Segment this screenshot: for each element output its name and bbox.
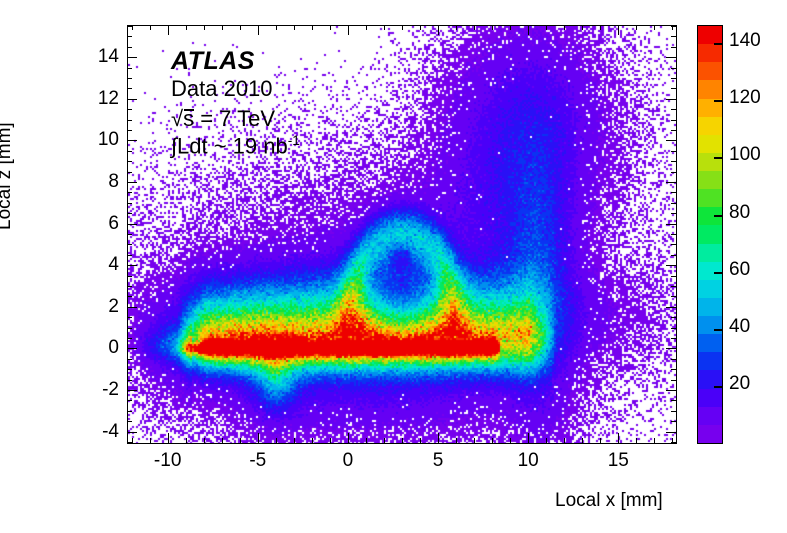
x-axis-tick — [186, 438, 187, 443]
y-axis-tick — [127, 213, 132, 214]
y-axis-tick-right — [671, 36, 676, 37]
color-scale-tick — [714, 157, 723, 159]
y-axis-tick — [127, 432, 137, 433]
x-axis-tick-top — [384, 25, 385, 30]
y-axis-tick-label: 10 — [85, 129, 119, 151]
y-axis-tick — [127, 47, 132, 48]
energy-value: = 7 TeV — [194, 106, 275, 131]
x-axis-tick — [204, 438, 205, 443]
y-axis-tick — [127, 130, 132, 131]
color-scale-band — [698, 244, 722, 262]
color-scale-tick-label: 20 — [729, 373, 750, 395]
y-axis-tick-right — [666, 57, 676, 58]
y-axis-tick — [127, 328, 132, 329]
x-axis-tick-label: -5 — [235, 450, 281, 472]
color-scale-tick-label: 140 — [729, 30, 761, 52]
sqrt-overbar — [184, 109, 194, 111]
x-axis-tick-top — [294, 25, 295, 30]
x-axis-tick — [384, 438, 385, 443]
y-axis-tick-right — [671, 442, 676, 443]
y-axis-tick-right — [671, 400, 676, 401]
x-axis-tick — [132, 438, 133, 443]
energy-label: √s = 7 TeV — [171, 107, 300, 130]
color-scale-band — [698, 407, 722, 425]
dataset-label: Data 2010 — [171, 78, 300, 100]
x-axis-tick-top — [330, 25, 331, 30]
y-axis-tick — [127, 172, 132, 173]
x-axis-tick — [402, 438, 403, 443]
x-axis-tick — [456, 438, 457, 443]
y-axis-tick — [127, 151, 132, 152]
y-axis-tick-right — [671, 234, 676, 235]
color-scale-tick-label: 120 — [729, 87, 761, 109]
x-axis-tick-top — [402, 25, 403, 30]
x-axis-tick — [546, 438, 547, 443]
luminosity-value: Ldt ~ 19 nb — [177, 134, 288, 159]
y-axis-tick-right — [671, 120, 676, 121]
y-axis-tick-label: 8 — [85, 171, 119, 193]
y-axis-tick — [127, 265, 137, 266]
x-axis-tick — [618, 433, 619, 443]
y-axis-tick — [127, 421, 132, 422]
color-scale-band — [698, 117, 722, 135]
y-axis-tick-right — [671, 68, 676, 69]
y-axis-tick-right — [666, 432, 676, 433]
x-axis-tick-top — [312, 25, 313, 30]
y-axis-tick — [127, 359, 132, 360]
y-axis-tick-right — [671, 192, 676, 193]
x-axis-tick — [222, 438, 223, 443]
x-axis-tick — [366, 438, 367, 443]
y-axis-tick — [127, 182, 137, 183]
y-axis-tick — [127, 234, 132, 235]
x-axis-tick-label: 5 — [415, 450, 461, 472]
y-axis-tick — [127, 99, 137, 100]
color-scale-tick-label: 60 — [729, 259, 750, 281]
y-axis-tick — [127, 296, 132, 297]
x-axis-tick-top — [204, 25, 205, 30]
x-axis-tick-top — [510, 25, 511, 30]
x-axis-tick-top — [600, 25, 601, 30]
y-axis-tick-right — [666, 390, 676, 391]
x-axis-tick-top — [636, 25, 637, 30]
y-axis-tick-right — [671, 161, 676, 162]
color-scale-band — [698, 280, 722, 298]
color-scale-tick — [714, 215, 723, 217]
luminosity-label: ∫Ldt ~ 19 nb-1 — [171, 134, 300, 158]
y-axis-tick — [127, 140, 137, 141]
x-axis-tick-top — [348, 25, 349, 35]
y-axis-tick — [127, 442, 132, 443]
y-axis-tick — [127, 109, 132, 110]
y-axis-tick-label: 12 — [85, 88, 119, 110]
x-axis-tick-top — [150, 25, 151, 30]
y-axis-tick-right — [671, 130, 676, 131]
x-axis-tick — [510, 438, 511, 443]
y-axis-tick — [127, 390, 137, 391]
x-axis-tick — [420, 438, 421, 443]
y-axis-tick-right — [671, 213, 676, 214]
y-axis-tick-right — [671, 172, 676, 173]
y-axis-tick-right — [671, 317, 676, 318]
y-axis-tick — [127, 276, 132, 277]
x-axis-tick — [492, 438, 493, 443]
color-scale-tick — [714, 272, 723, 274]
color-scale-band — [698, 80, 722, 98]
x-axis-tick — [528, 433, 529, 443]
color-scale-tick-label: 40 — [729, 316, 750, 338]
x-axis-tick-label: 0 — [325, 450, 371, 472]
y-axis-tick — [127, 307, 137, 308]
y-axis-tick — [127, 78, 132, 79]
x-axis-tick-label: -10 — [145, 450, 191, 472]
color-scale-band — [698, 352, 722, 370]
color-scale-band — [698, 189, 722, 207]
color-scale-bar — [697, 25, 723, 444]
x-axis-tick — [582, 438, 583, 443]
x-axis-tick — [564, 438, 565, 443]
y-axis-tick-label: 2 — [85, 296, 119, 318]
x-axis-tick — [294, 438, 295, 443]
y-axis-tick — [127, 36, 132, 37]
x-axis-tick-label: 15 — [595, 450, 641, 472]
y-axis-tick-label: 14 — [85, 46, 119, 68]
y-axis-tick-right — [666, 224, 676, 225]
color-scale-tick — [714, 329, 723, 331]
color-scale-band — [698, 44, 722, 62]
color-scale-band — [698, 135, 722, 153]
y-axis-tick-right — [666, 99, 676, 100]
x-axis-tick-top — [528, 25, 529, 35]
sqrt-glyph: √ — [171, 106, 183, 131]
y-axis-title: Local z [mm] — [0, 122, 16, 230]
x-axis-tick-top — [276, 25, 277, 30]
y-axis-tick-right — [671, 26, 676, 27]
y-axis-tick-right — [671, 47, 676, 48]
x-axis-tick-top — [258, 25, 259, 35]
y-axis-tick — [127, 57, 137, 58]
x-axis-tick-top — [492, 25, 493, 30]
color-scale-tick — [714, 100, 723, 102]
x-axis-title: Local x [mm] — [555, 490, 663, 512]
y-axis-tick — [127, 203, 132, 204]
y-axis-tick — [127, 317, 132, 318]
color-scale-band — [698, 334, 722, 352]
x-axis-tick-top — [582, 25, 583, 30]
color-scale-band — [698, 153, 722, 171]
x-axis-tick-top — [420, 25, 421, 30]
luminosity-exponent: -1 — [288, 133, 300, 148]
y-axis-tick-right — [671, 369, 676, 370]
y-axis-tick-right — [671, 411, 676, 412]
color-scale-tick-label: 80 — [729, 202, 750, 224]
x-axis-tick — [654, 438, 655, 443]
color-scale-band — [698, 62, 722, 80]
x-axis-tick — [168, 433, 169, 443]
x-axis-tick — [348, 433, 349, 443]
y-axis-tick-right — [671, 276, 676, 277]
y-axis-tick — [127, 224, 137, 225]
y-axis-tick-right — [666, 140, 676, 141]
y-axis-tick — [127, 255, 132, 256]
color-scale-band — [698, 425, 722, 443]
x-axis-tick — [312, 438, 313, 443]
y-axis-tick — [127, 286, 132, 287]
y-axis-tick-right — [666, 307, 676, 308]
x-axis-tick-top — [564, 25, 565, 30]
x-axis-tick-top — [132, 25, 133, 30]
y-axis-tick-right — [671, 255, 676, 256]
x-axis-tick-top — [366, 25, 367, 30]
x-axis-tick — [258, 433, 259, 443]
x-axis-tick — [240, 438, 241, 443]
plot-frame: ATLAS Data 2010 √s = 7 TeV ∫Ldt ~ 19 nb-… — [127, 25, 677, 444]
x-axis-tick-top — [186, 25, 187, 30]
color-scale-band — [698, 262, 722, 280]
x-axis-tick — [474, 438, 475, 443]
x-axis-tick-top — [618, 25, 619, 35]
y-axis-tick-right — [671, 359, 676, 360]
x-axis-tick-top — [168, 25, 169, 35]
y-axis-tick-right — [671, 88, 676, 89]
x-axis-tick-top — [546, 25, 547, 30]
y-axis-tick-label: 4 — [85, 254, 119, 276]
y-axis-tick-label: 6 — [85, 213, 119, 235]
y-axis-tick-label: -4 — [85, 421, 119, 443]
x-axis-tick — [150, 438, 151, 443]
x-axis-tick-label: 10 — [505, 450, 551, 472]
y-axis-tick-right — [671, 151, 676, 152]
x-axis-tick — [438, 433, 439, 443]
y-axis-tick-right — [671, 286, 676, 287]
y-axis-tick-right — [666, 182, 676, 183]
y-axis-tick-right — [666, 348, 676, 349]
y-axis-tick-right — [671, 109, 676, 110]
y-axis-tick — [127, 88, 132, 89]
y-axis-tick — [127, 68, 132, 69]
x-axis-tick — [330, 438, 331, 443]
y-axis-tick — [127, 244, 132, 245]
x-axis-tick-top — [438, 25, 439, 35]
x-axis-tick — [276, 438, 277, 443]
y-axis-tick-label: -2 — [85, 379, 119, 401]
y-axis-tick — [127, 120, 132, 121]
color-scale-band — [698, 389, 722, 407]
y-axis-tick-right — [671, 328, 676, 329]
color-scale-tick-label: 100 — [729, 144, 761, 166]
y-axis-tick — [127, 380, 132, 381]
figure-root: ATLAS Data 2010 √s = 7 TeV ∫Ldt ~ 19 nb-… — [0, 0, 787, 533]
y-axis-tick — [127, 369, 132, 370]
y-axis-tick-right — [671, 380, 676, 381]
y-axis-tick — [127, 338, 132, 339]
y-axis-tick-label: 0 — [85, 337, 119, 359]
y-axis-tick-right — [671, 78, 676, 79]
y-axis-tick-right — [671, 421, 676, 422]
y-axis-tick — [127, 161, 132, 162]
x-axis-tick — [600, 438, 601, 443]
x-axis-tick-top — [654, 25, 655, 30]
y-axis-tick — [127, 26, 132, 27]
color-scale-band — [698, 298, 722, 316]
plot-annotations: ATLAS Data 2010 √s = 7 TeV ∫Ldt ~ 19 nb-… — [171, 49, 300, 158]
x-axis-tick — [636, 438, 637, 443]
color-scale-band — [698, 26, 722, 44]
x-axis-tick-top — [456, 25, 457, 30]
y-axis-tick — [127, 411, 132, 412]
y-axis-tick-right — [671, 296, 676, 297]
color-scale-band — [698, 225, 722, 243]
atlas-label: ATLAS — [171, 49, 300, 75]
color-scale-tick — [714, 43, 723, 45]
color-scale-band — [698, 316, 722, 334]
x-axis-tick-top — [474, 25, 475, 30]
y-axis-tick — [127, 192, 132, 193]
x-axis-tick-top — [240, 25, 241, 30]
y-axis-tick-right — [671, 203, 676, 204]
y-axis-tick-right — [671, 338, 676, 339]
y-axis-tick — [127, 400, 132, 401]
color-scale-band — [698, 171, 722, 189]
y-axis-tick — [127, 348, 137, 349]
y-axis-tick-right — [671, 244, 676, 245]
y-axis-tick-right — [666, 265, 676, 266]
x-axis-tick-top — [222, 25, 223, 30]
color-scale-tick — [714, 386, 723, 388]
